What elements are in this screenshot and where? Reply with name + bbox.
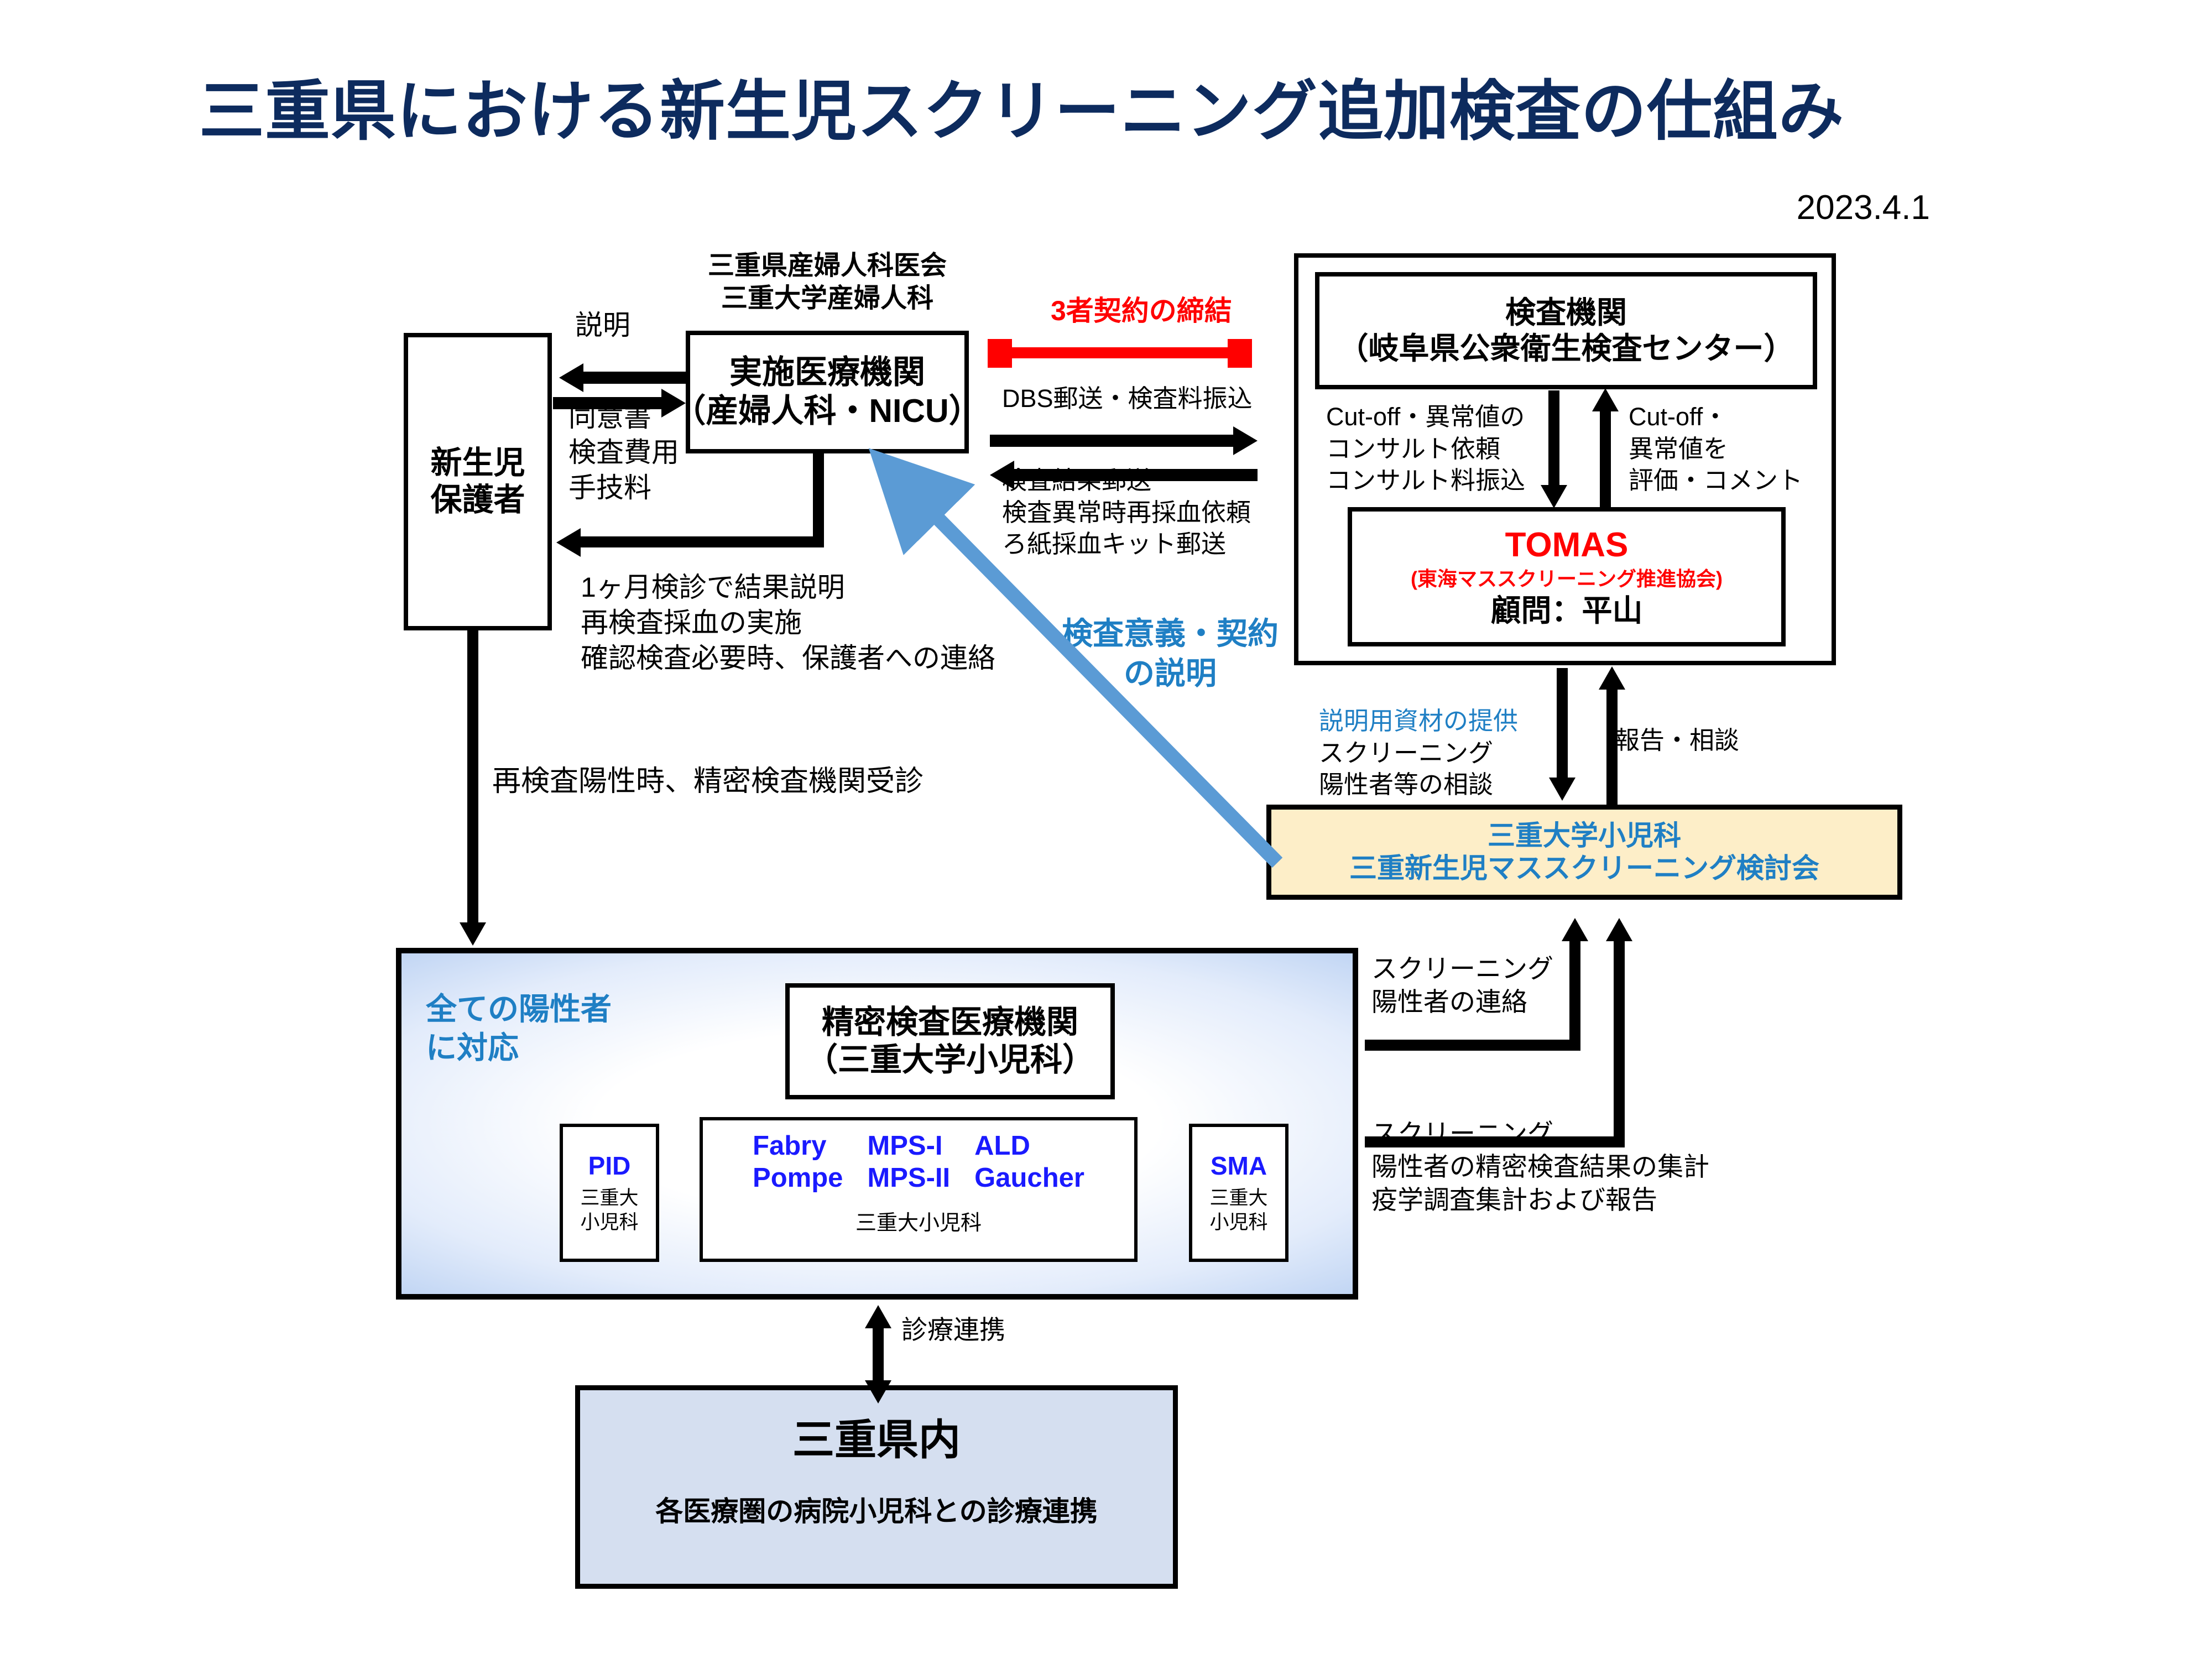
arrow-3party-line xyxy=(1012,347,1228,358)
arrow-3party-head-right xyxy=(1228,339,1252,368)
label-cutoff-reply-line1: Cut-off・ xyxy=(1629,401,1803,433)
label-cutoff-request-line1: Cut-off・異常値の xyxy=(1326,401,1525,433)
label-consent-line2: 検査費用 xyxy=(568,435,679,470)
pid-dept-line1: 三重大 xyxy=(580,1186,638,1211)
arrow-consent-line xyxy=(553,397,661,409)
arrow-results-line xyxy=(1014,469,1258,481)
arrow-dbs-line xyxy=(990,435,1233,447)
label-materials-line1: 説明用資材の提供 xyxy=(1319,705,1518,737)
label-cutoff-reply-group: Cut-off・ 異常値を 評価・コメント xyxy=(1629,401,1803,497)
arrow-screening-positive-vline xyxy=(1569,940,1580,1051)
box-tomas[interactable]: TOMAS (東海マススクリーニング推進協会) 顧問：平山 xyxy=(1348,507,1786,646)
label-consent-line3: 手技料 xyxy=(568,470,679,505)
arrow-materials-vline xyxy=(1557,668,1568,784)
label-cutoff-request-line2: コンサルト依頼 xyxy=(1326,433,1525,465)
label-report-consult: 報告・相談 xyxy=(1615,724,1739,757)
label-materials-line2: スクリーニング xyxy=(1319,737,1518,769)
facility-label-line1: 実施医療機関 xyxy=(729,353,925,392)
label-retest-positive: 再検査陽性時、精密検査機関受診 xyxy=(492,763,924,800)
arrow-cutoff-reply-head xyxy=(1592,388,1619,411)
mieken-title: 三重県内 xyxy=(792,1416,961,1465)
disease-name: ALD xyxy=(974,1130,1030,1161)
obgyn-header-label: 三重県産婦人科医会 三重大学産婦人科 xyxy=(708,250,947,315)
arrow-consent-head xyxy=(661,389,686,418)
positive-panel-caption: 全ての陽性者 に対応 xyxy=(426,990,612,1067)
label-test-meaning-line1: 検査意義・契約 xyxy=(1062,614,1279,654)
document-date: 2023.4.1 xyxy=(1797,188,1930,227)
arrow-onemonth-vline xyxy=(813,453,824,547)
box-disease-sma[interactable]: SMA 三重大 小児科 xyxy=(1189,1124,1288,1262)
arrow-materials-head xyxy=(1549,778,1575,801)
obgyn-header-line2: 三重大学産婦人科 xyxy=(708,283,947,315)
arrow-cooperation-vline xyxy=(873,1327,884,1383)
label-results-line2: 検査異常時再採血依頼 xyxy=(1002,497,1251,529)
arrow-3party-head-left xyxy=(988,339,1012,368)
arrow-report-head xyxy=(1599,666,1625,690)
label-screening-summary-group: スクリーニング 陽性者の精密検査結果の集計 疫学調査集計および報告 xyxy=(1371,1117,1709,1217)
arrow-dbs-head xyxy=(1233,426,1258,455)
arrow-screening-summary-vline xyxy=(1614,940,1625,1147)
precision-label-line2: （三重大学小児科） xyxy=(806,1041,1094,1079)
diagram-canvas: 三重県における新生児スクリーニング追加検査の仕組み 2023.4.1 三重県産婦… xyxy=(0,0,2212,1659)
arrow-report-vline xyxy=(1606,688,1618,805)
arrow-screening-summary-hline xyxy=(1365,1136,1625,1147)
arrow-cooperation-head-down xyxy=(865,1380,891,1404)
label-screening-positive-line2: 陽性者の連絡 xyxy=(1371,985,1553,1019)
newborn-label-line2: 保護者 xyxy=(431,482,525,519)
label-cutoff-reply-line2: 異常値を xyxy=(1629,433,1803,465)
label-test-meaning-line2: の説明 xyxy=(1062,654,1279,693)
label-cutoff-request-group: Cut-off・異常値の コンサルト依頼 コンサルト料振込 xyxy=(1326,401,1525,497)
box-precision-testing-facility[interactable]: 精密検査医療機関 （三重大学小児科） xyxy=(785,983,1115,1099)
label-results-line3: ろ紙採血キット郵送 xyxy=(1002,528,1251,560)
arrow-retest-vline xyxy=(467,630,478,922)
arrow-cutoff-reply-vline xyxy=(1600,410,1611,509)
disease-name: Gaucher xyxy=(974,1162,1084,1193)
label-three-party-contract: 3者契約の締結 xyxy=(1051,293,1232,328)
label-screening-summary-line3: 疫学調査集計および報告 xyxy=(1371,1183,1709,1217)
disease-name: MPS-I xyxy=(867,1130,942,1161)
box-disease-pid[interactable]: PID 三重大 小児科 xyxy=(560,1124,659,1262)
arrow-explanation-head xyxy=(559,363,583,392)
label-one-month-line3: 確認検査必要時、保護者への連絡 xyxy=(581,640,995,676)
lab-label-line1: 検査機関 xyxy=(1505,295,1627,331)
page-title: 三重県における新生児スクリーニング追加検査の仕組み xyxy=(199,58,1844,153)
obgyn-header-line1: 三重県産婦人科医会 xyxy=(708,250,947,283)
pid-dept: 三重大 小児科 xyxy=(580,1186,638,1235)
arrow-cutoff-request-head xyxy=(1541,485,1567,508)
arrow-explanation-line xyxy=(583,372,686,384)
arrow-onemonth-head xyxy=(556,528,581,557)
tomas-subtitle: (東海マススクリーニング推進協会) xyxy=(1411,567,1723,591)
label-explanation: 説明 xyxy=(575,307,630,343)
label-one-month-line1: 1ヶ月検診で結果説明 xyxy=(581,570,995,605)
arrow-results-head xyxy=(990,461,1014,489)
pid-dept-line2: 小児科 xyxy=(580,1211,638,1235)
mieuniv-label-line2: 三重新生児マススクリーニング検討会 xyxy=(1349,852,1819,885)
precision-label-line1: 精密検査医療機関 xyxy=(822,1004,1078,1041)
label-one-month-line2: 再検査採血の実施 xyxy=(581,605,995,640)
arrow-screening-positive-hline xyxy=(1365,1040,1580,1051)
arrow-screening-positive-head xyxy=(1562,918,1588,941)
positive-caption-line1: 全ての陽性者 xyxy=(426,990,612,1029)
disease-panel-dept: 三重大小児科 xyxy=(855,1206,982,1236)
tomas-title: TOMAS xyxy=(1505,525,1629,565)
box-mie-prefecture[interactable]: 三重県内 各医療圏の病院小児科との診療連携 xyxy=(575,1385,1178,1589)
disease-name-grid: Fabry MPS-I ALD Pompe MPS-II Gaucher xyxy=(753,1130,1084,1193)
newborn-label-line1: 新生児 xyxy=(431,445,525,482)
box-newborn-guardian[interactable]: 新生児 保護者 xyxy=(404,333,552,630)
tomas-advisor: 顧問：平山 xyxy=(1490,593,1642,629)
arrow-cutoff-request-vline xyxy=(1548,390,1559,493)
positive-caption-line2: に対応 xyxy=(426,1029,612,1067)
disease-name: Fabry xyxy=(753,1130,826,1161)
arrow-cooperation-head-up xyxy=(865,1305,891,1328)
facility-label-line2: （産婦人科・NICU） xyxy=(673,392,981,431)
box-implementing-facility[interactable]: 実施医療機関 （産婦人科・NICU） xyxy=(686,331,969,453)
arrow-onemonth-hline xyxy=(581,536,824,547)
lab-label-line2: （岐阜県公衆衛生検査センター） xyxy=(1338,331,1794,367)
label-screening-positive-line1: スクリーニング xyxy=(1371,952,1553,985)
mieken-subtitle: 各医療圏の病院小児科との診療連携 xyxy=(655,1495,1098,1528)
sma-dept-line2: 小児科 xyxy=(1209,1211,1267,1235)
label-cutoff-reply-line3: 評価・コメント xyxy=(1629,465,1803,497)
label-dbs-mailing: DBS郵送・検査料振込 xyxy=(1002,383,1253,415)
label-materials-line3: 陽性者等の相談 xyxy=(1319,769,1518,801)
sma-dept-line1: 三重大 xyxy=(1209,1186,1267,1211)
arrow-retest-head xyxy=(460,922,486,946)
sma-dept: 三重大 小児科 xyxy=(1209,1186,1267,1235)
box-mie-university-pediatrics[interactable]: 三重大学小児科 三重新生児マススクリーニング検討会 xyxy=(1266,805,1902,900)
mieuniv-label-line1: 三重大学小児科 xyxy=(1488,820,1681,852)
pid-code: PID xyxy=(588,1151,631,1181)
label-screening-positive-contact-group: スクリーニング 陽性者の連絡 xyxy=(1371,952,1553,1019)
disease-name: MPS-II xyxy=(867,1162,950,1193)
label-materials-group: 説明用資材の提供 スクリーニング 陽性者等の相談 xyxy=(1319,705,1518,801)
box-testing-institution[interactable]: 検査機関 （岐阜県公衆衛生検査センター） xyxy=(1315,272,1817,389)
label-one-month-checkup-group: 1ヶ月検診で結果説明 再検査採血の実施 確認検査必要時、保護者への連絡 xyxy=(581,570,995,676)
box-disease-panel[interactable]: Fabry MPS-I ALD Pompe MPS-II Gaucher 三重大… xyxy=(700,1117,1138,1262)
label-clinical-cooperation: 診療連携 xyxy=(901,1313,1005,1347)
disease-name: Pompe xyxy=(753,1162,843,1193)
label-cutoff-request-line3: コンサルト料振込 xyxy=(1326,465,1525,497)
label-test-meaning-group: 検査意義・契約 の説明 xyxy=(1062,614,1279,693)
arrow-screening-summary-head xyxy=(1606,918,1632,941)
label-screening-summary-line2: 陽性者の精密検査結果の集計 xyxy=(1371,1150,1709,1183)
sma-code: SMA xyxy=(1211,1151,1267,1181)
